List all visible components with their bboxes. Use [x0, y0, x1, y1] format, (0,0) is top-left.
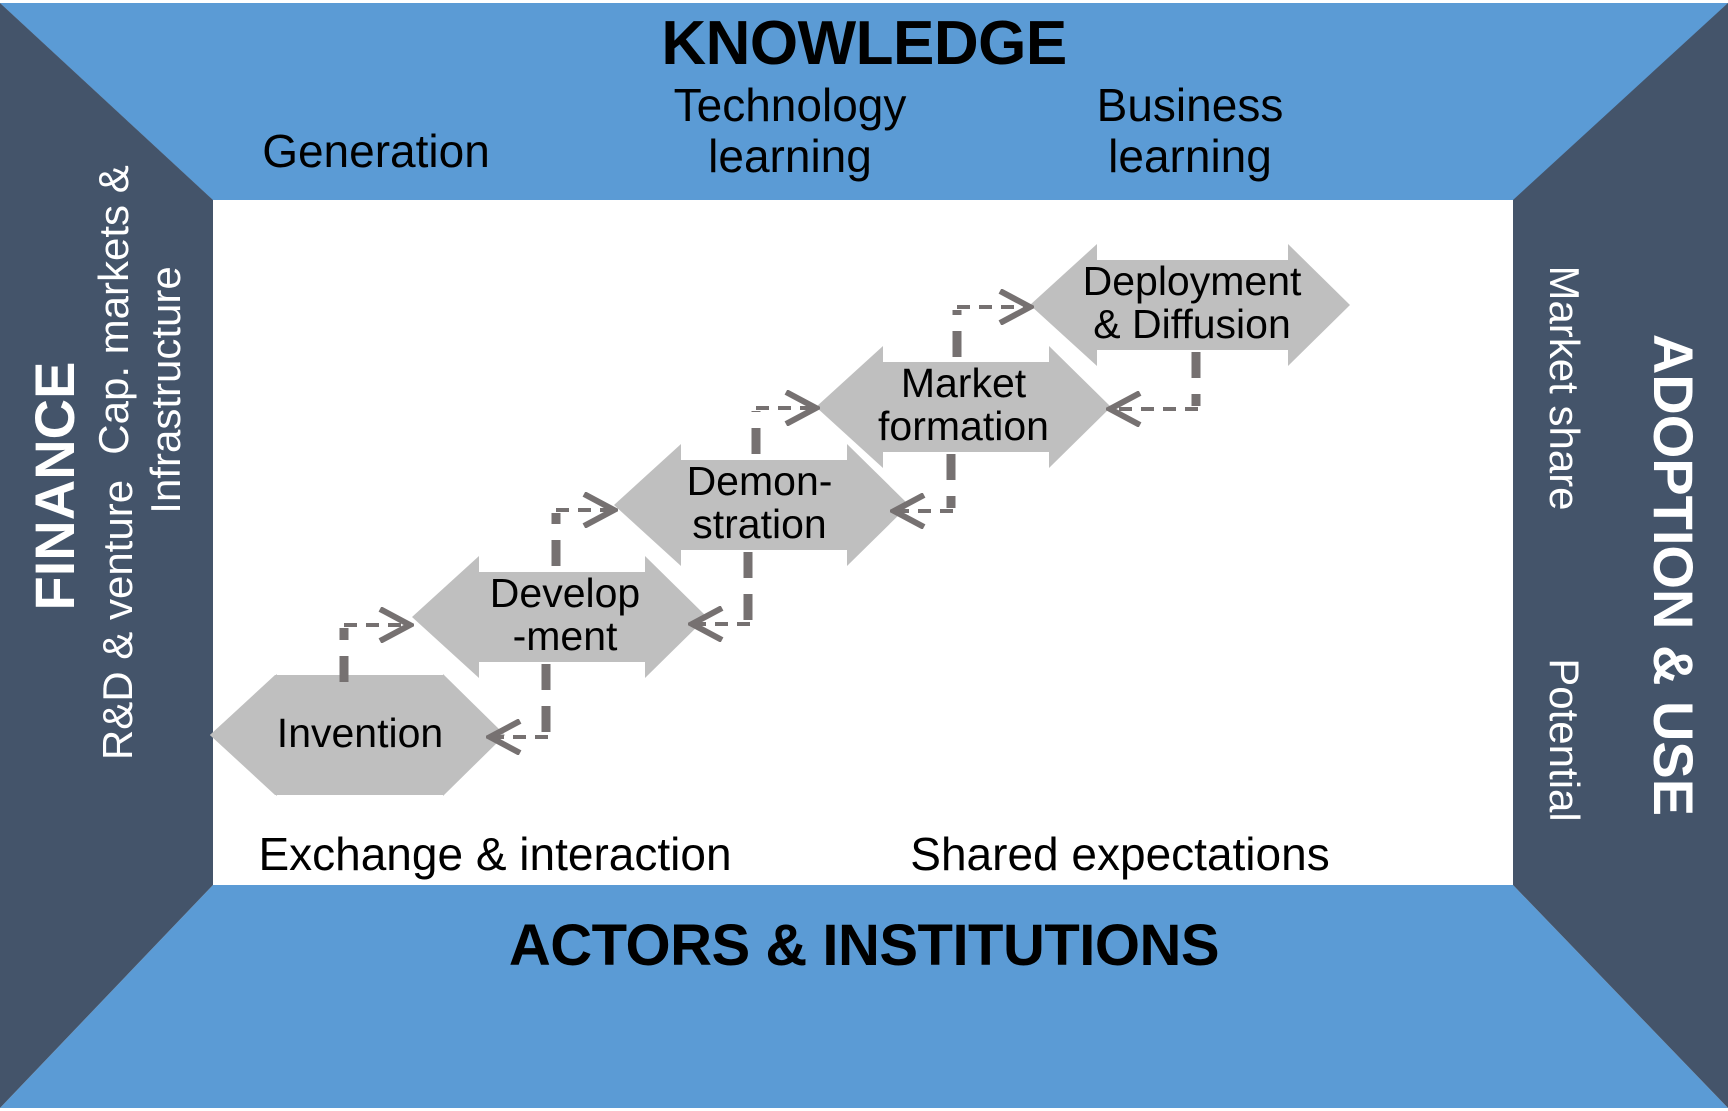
top-sublabel-generation: Generation: [196, 126, 556, 177]
left-band-title: FINANCE: [22, 136, 87, 836]
stage-arrow-deployment-diffusion-shape[interactable]: [1030, 244, 1350, 366]
bottom-band-title: ACTORS & INSTITUTIONS: [0, 912, 1728, 979]
bottom-sublabel-exchange-interaction: Exchange & interaction: [200, 827, 790, 881]
left-sublabel-rd-venture: R&D & venture: [94, 410, 142, 830]
right-band-title: ADOPTION & USE: [1641, 215, 1706, 935]
innovation-chain-diagram: KNOWLEDGE Generation Technology learning…: [0, 0, 1728, 1111]
right-sublabel-market-share: Market share: [1540, 228, 1588, 548]
left-sublabel-infrastructure: Infrastructure: [142, 140, 190, 640]
top-band-title: KNOWLEDGE: [0, 8, 1728, 79]
top-sublabel-business-learning: Business learning: [1010, 80, 1370, 181]
top-sublabel-technology-learning: Technology learning: [610, 80, 970, 181]
bottom-sublabel-shared-expectations: Shared expectations: [875, 827, 1365, 881]
right-sublabel-potential: Potential: [1540, 600, 1588, 880]
